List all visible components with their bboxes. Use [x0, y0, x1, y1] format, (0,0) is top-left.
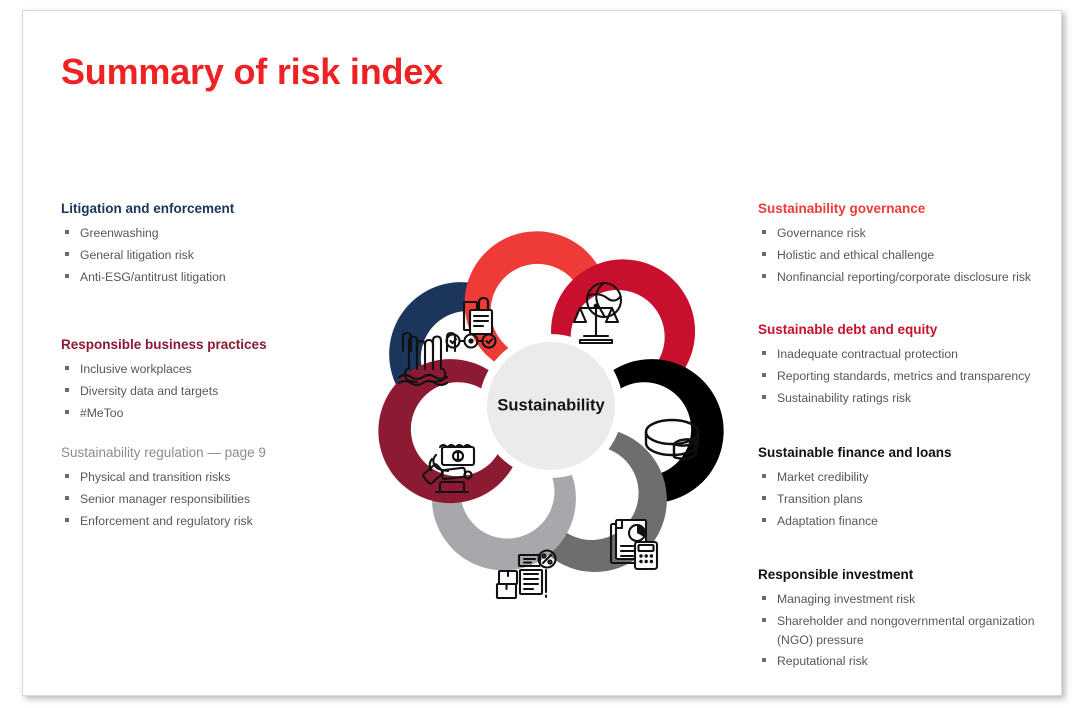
- list-item: General litigation risk: [61, 246, 341, 265]
- topic-list: Managing investment risk Shareholder and…: [758, 590, 1043, 671]
- topic-list: Inadequate contractual protection Report…: [758, 345, 1043, 407]
- topic-list: Greenwashing General litigation risk Ant…: [61, 224, 341, 286]
- risk-index-flower-diagram: Sustainability: [341, 196, 761, 616]
- list-item: Transition plans: [758, 490, 1043, 509]
- list-item: Inclusive workplaces: [61, 360, 341, 379]
- list-item-label: Managing investment risk: [777, 592, 915, 606]
- list-item: Shareholder and nongovernmental organiza…: [758, 612, 1043, 649]
- list-item: Reporting standards, metrics and transpa…: [758, 367, 1043, 386]
- bullet-square-icon: [65, 496, 69, 500]
- list-item-label: Senior manager responsibilities: [80, 492, 250, 506]
- bullet-square-icon: [762, 474, 766, 478]
- topic-heading: Sustainability governance: [758, 201, 1043, 217]
- list-item-label: Enforcement and regulatory risk: [80, 514, 253, 528]
- topic-block-sustainability-regulation: Sustainability regulation — page 9 Physi…: [61, 445, 341, 533]
- list-item-label: Nonfinancial reporting/corporate disclos…: [777, 270, 1031, 284]
- list-item: Reputational risk: [758, 652, 1043, 671]
- list-item-label: Holistic and ethical challenge: [777, 248, 934, 262]
- bullet-square-icon: [65, 474, 69, 478]
- topic-block-responsible-business-practices: Responsible business practices Inclusive…: [61, 337, 341, 425]
- bullet-square-icon: [762, 274, 766, 278]
- list-item-label: Diversity data and targets: [80, 384, 218, 398]
- topic-block-sustainable-debt-and-equity: Sustainable debt and equity Inadequate c…: [758, 322, 1043, 410]
- slide-canvas: Summary of risk index Litigation and enf…: [22, 10, 1062, 696]
- bullet-square-icon: [762, 618, 766, 622]
- list-item: Managing investment risk: [758, 590, 1043, 609]
- bullet-square-icon: [762, 496, 766, 500]
- list-item: Physical and transition risks: [61, 468, 341, 487]
- bullet-square-icon: [762, 518, 766, 522]
- topic-heading: Sustainable finance and loans: [758, 445, 1043, 461]
- list-item: Senior manager responsibilities: [61, 490, 341, 509]
- bullet-square-icon: [65, 518, 69, 522]
- bullet-square-icon: [762, 395, 766, 399]
- topic-heading: Litigation and enforcement: [61, 201, 341, 217]
- list-item-label: Adaptation finance: [777, 514, 878, 528]
- list-item: Adaptation finance: [758, 512, 1043, 531]
- list-item-label: General litigation risk: [80, 248, 194, 262]
- bullet-square-icon: [65, 388, 69, 392]
- list-item: Inadequate contractual protection: [758, 345, 1043, 364]
- list-item: Greenwashing: [61, 224, 341, 243]
- topic-block-sustainability-governance: Sustainability governance Governance ris…: [758, 201, 1043, 289]
- list-item: Diversity data and targets: [61, 382, 341, 401]
- bullet-square-icon: [762, 596, 766, 600]
- topic-heading: Responsible investment: [758, 567, 1043, 583]
- list-item-label: Reputational risk: [777, 654, 868, 668]
- center-hub: [487, 342, 615, 470]
- list-item-label: Physical and transition risks: [80, 470, 230, 484]
- topic-block-sustainable-finance-and-loans: Sustainable finance and loans Market cre…: [758, 445, 1043, 533]
- topic-list: Physical and transition risks Senior man…: [61, 468, 341, 530]
- list-item-label: Transition plans: [777, 492, 863, 506]
- list-item-label: Reporting standards, metrics and transpa…: [777, 369, 1030, 383]
- topic-list: Inclusive workplaces Diversity data and …: [61, 360, 341, 422]
- list-item-label: Market credibility: [777, 470, 868, 484]
- topic-block-litigation-and-enforcement: Litigation and enforcement Greenwashing …: [61, 201, 341, 289]
- list-item: Governance risk: [758, 224, 1043, 243]
- bullet-square-icon: [762, 252, 766, 256]
- bullet-square-icon: [65, 366, 69, 370]
- bullet-square-icon: [762, 230, 766, 234]
- topic-heading: Sustainability regulation — page 9: [61, 445, 341, 461]
- list-item-label: Shareholder and nongovernmental organiza…: [777, 614, 1034, 647]
- list-item-label: Governance risk: [777, 226, 866, 240]
- bullet-square-icon: [762, 658, 766, 662]
- list-item-label: Sustainability ratings risk: [777, 391, 911, 405]
- list-item: Holistic and ethical challenge: [758, 246, 1043, 265]
- bullet-square-icon: [65, 252, 69, 256]
- topic-list: Governance risk Holistic and ethical cha…: [758, 224, 1043, 286]
- list-item: Sustainability ratings risk: [758, 389, 1043, 408]
- list-item-label: Anti-ESG/antitrust litigation: [80, 270, 226, 284]
- bullet-square-icon: [65, 274, 69, 278]
- page-title: Summary of risk index: [61, 51, 443, 93]
- bullet-square-icon: [65, 230, 69, 234]
- list-item: Anti-ESG/antitrust litigation: [61, 268, 341, 287]
- list-item-label: Inclusive workplaces: [80, 362, 192, 376]
- list-item: Market credibility: [758, 468, 1043, 487]
- list-item: Enforcement and regulatory risk: [61, 512, 341, 531]
- list-item: #MeToo: [61, 404, 341, 423]
- topic-block-responsible-investment: Responsible investment Managing investme…: [758, 567, 1043, 674]
- list-item-label: #MeToo: [80, 406, 123, 420]
- topic-heading: Responsible business practices: [61, 337, 341, 353]
- bullet-square-icon: [762, 373, 766, 377]
- topic-heading: Sustainable debt and equity: [758, 322, 1043, 338]
- list-item: Nonfinancial reporting/corporate disclos…: [758, 268, 1043, 287]
- topic-list: Market credibility Transition plans Adap…: [758, 468, 1043, 530]
- bullet-square-icon: [65, 410, 69, 414]
- bullet-square-icon: [762, 351, 766, 355]
- list-item-label: Greenwashing: [80, 226, 159, 240]
- list-item-label: Inadequate contractual protection: [777, 347, 958, 361]
